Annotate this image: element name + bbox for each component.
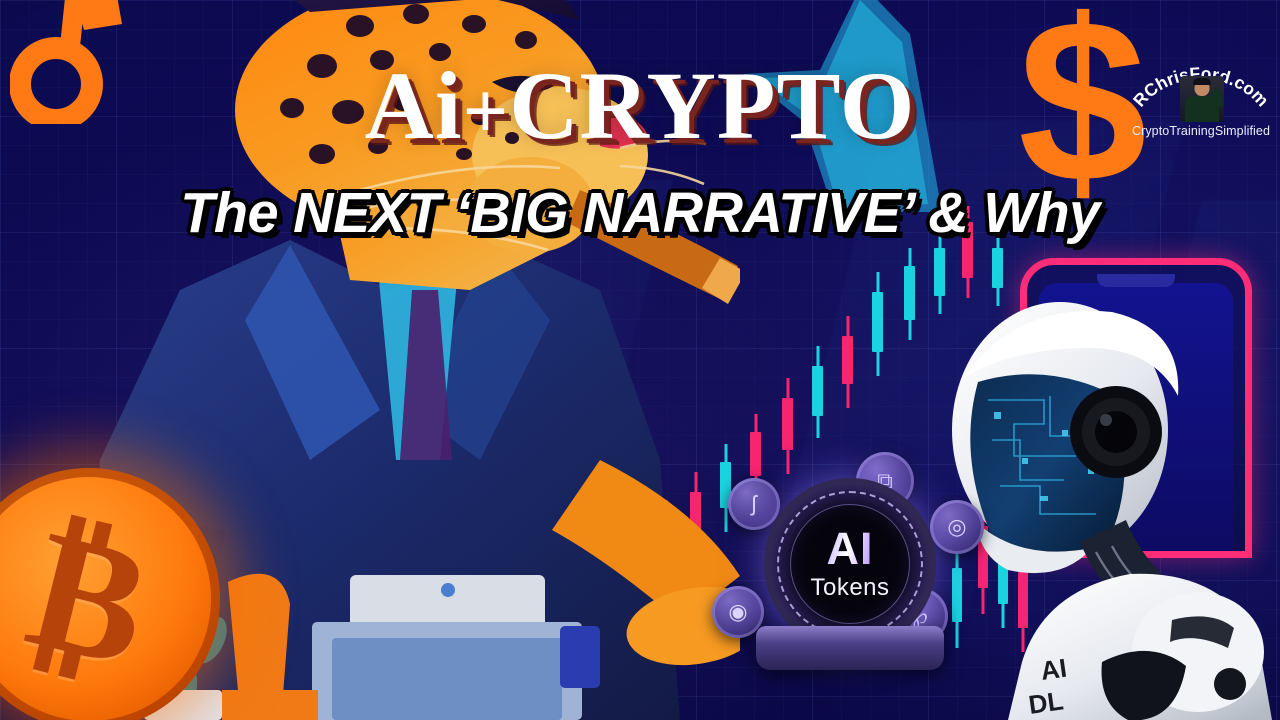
candle-up [904, 248, 915, 340]
candle-body [782, 398, 793, 450]
title-part-ai: Ai [365, 52, 463, 159]
candle-body [842, 336, 853, 384]
ai-coin-label-ai: AI [827, 526, 874, 571]
ai-coin-label-tokens: Tokens [810, 574, 889, 602]
candle-body [992, 248, 1003, 288]
candle-body [934, 248, 945, 296]
robot-shoulder-label-2: DL [1027, 685, 1066, 720]
brand-tagline: CryptoTrainingSimplified [1124, 124, 1278, 138]
candle-body [750, 432, 761, 476]
token-graph: ◉ [712, 586, 764, 638]
page-title: Ai+CRYPTO [0, 58, 1280, 154]
candle-body [872, 292, 883, 352]
phone-notch [1097, 274, 1175, 287]
token-solana: ʃ [728, 478, 780, 530]
thumbnail-canvas: ₿ $ [0, 0, 1280, 720]
candle-down [842, 316, 853, 408]
candle-down [782, 378, 793, 474]
brand-watermark[interactable]: RChrisFord.com CryptoTrainingSimplified [1128, 52, 1274, 148]
ai-tokens-coin: AI Tokens [764, 478, 936, 650]
candle-up [872, 272, 883, 376]
robot-shoulder-label-1: AI [1039, 653, 1069, 686]
avatar-hat [1193, 78, 1211, 85]
title-part-crypto: CRYPTO [509, 52, 915, 159]
candle-body [904, 266, 915, 320]
bitcoin-glyph: ₿ [14, 504, 163, 694]
page-subtitle: The NEXT ‘BIG NARRATIVE’ & Why [13, 182, 1267, 245]
token-ocean: ◎ [930, 500, 984, 554]
candle-up [812, 346, 823, 438]
coin-pedestal [756, 626, 944, 670]
ai-robot-icon: AI DL [930, 290, 1280, 720]
avatar [1180, 76, 1224, 122]
title-plus: + [463, 68, 510, 156]
candle-body [812, 366, 823, 416]
